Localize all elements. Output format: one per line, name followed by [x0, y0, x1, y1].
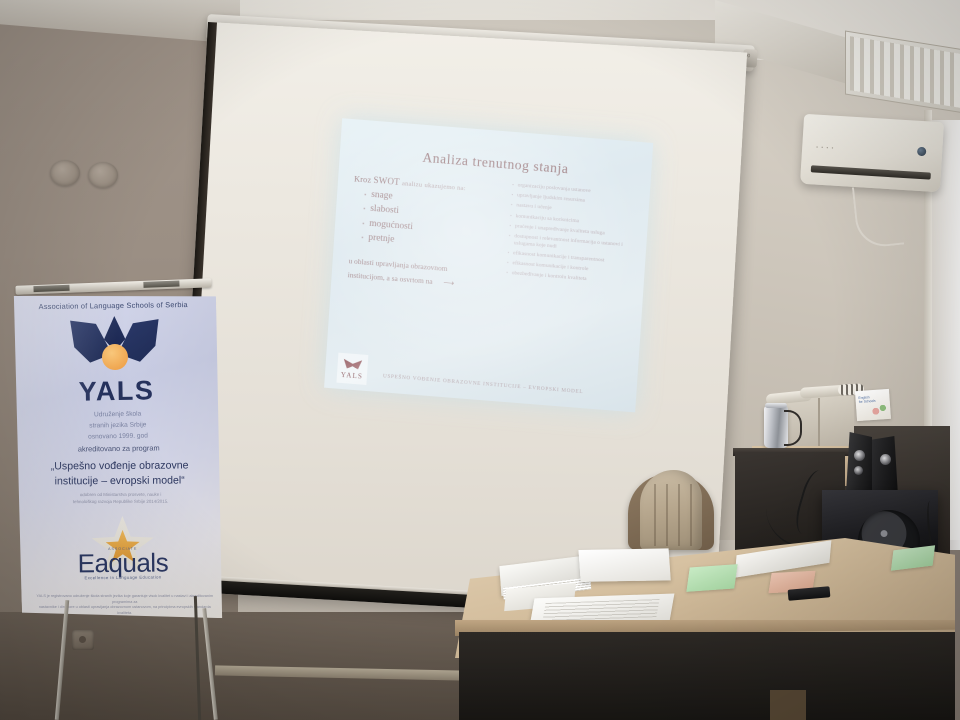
ac-vent	[811, 165, 931, 179]
bullet-marker: ▪	[363, 206, 366, 212]
banner-program-line-1: „Uspešno vođenje obrazovne	[21, 458, 219, 474]
slide-bullet: ▪ mogućnosti	[362, 218, 493, 238]
bullet-marker: ▪	[512, 182, 514, 189]
slide-lead-line: Kroz SWOT analizu ukazujemo na:	[354, 173, 496, 194]
eaquals-associate-badge: ASSOCIATE	[108, 547, 137, 551]
banner-subtitle: Udruženje škola stranih jezika Srbije os…	[15, 408, 222, 444]
satellite-speaker-icon[interactable]	[872, 436, 898, 496]
banner-header-text: Association of Language Schools of Serbi…	[10, 300, 216, 312]
slide-right-bullet: ▪ organizaciju poslovanja ustanove	[512, 182, 640, 199]
banner-fine-print-line: tehnološkog razvoja Republike Srbije 201…	[32, 498, 210, 505]
binder-right-page	[578, 548, 670, 581]
lead-prefix: Kroz	[354, 174, 372, 184]
slide-title: Analiza trenutnog stanja	[339, 143, 651, 184]
arrow-icon: ⟶	[443, 276, 454, 291]
ac-indicator-led	[917, 147, 927, 157]
slide-bullet: ▪ pretnje	[361, 232, 492, 252]
speaker-driver	[854, 450, 865, 461]
slide-tail-text: u oblasti upravljanja obrazovnom institu…	[347, 254, 490, 293]
banner-bottom-fine-print: YALS je registrovano udruženje škola str…	[32, 594, 218, 616]
banner-subtitle-line: Udruženje škola	[15, 408, 221, 422]
yals-logo-text: YALS	[341, 370, 364, 380]
right-bullet-label: upravljanje ljudskim resursima	[517, 193, 585, 205]
banner-bottom-line: YALS je registrovano udruženje škola str…	[32, 594, 218, 605]
logo-sun-icon	[102, 344, 128, 370]
banner-accreditation-label: akreditovano za program	[16, 443, 222, 455]
right-bullet-label: dostupnost i relevantnost informacija o …	[514, 233, 637, 256]
bullet-marker: ▪	[507, 260, 509, 267]
tail-line-2-row: institucijom, a sa osvrtom na ⟶	[347, 268, 490, 293]
banner-subtitle-line: stranih jezika Srbije	[15, 419, 221, 433]
wall-disc-icon	[88, 162, 118, 188]
speaker-driver	[854, 466, 863, 475]
slide-right-bullet: ▪ upravljanje ljudskim resursima	[511, 192, 639, 209]
bullet-marker: ▪	[508, 233, 511, 247]
slide-right-bullet: ▪ obezbeđivanje i kontrolu kvaliteta	[506, 270, 634, 287]
banner-poster: Association of Language Schools of Serbi…	[10, 288, 229, 626]
fabric-fold	[678, 484, 680, 546]
right-bullet-label: organizaciju poslovanja ustanove	[517, 182, 590, 195]
kettle-lid	[765, 403, 787, 408]
eaquals-star-outline-icon	[91, 516, 154, 575]
yals-bird-icon	[342, 358, 363, 372]
logo-left-wing	[67, 318, 114, 365]
desk-leg	[770, 690, 806, 720]
bullet-marker: ▪	[506, 270, 508, 277]
document-text-lines	[542, 599, 659, 621]
banner-bottom-line: nastavnike i direktore u oblasti upravlj…	[32, 605, 218, 616]
ac-brand-label: • • • •	[816, 145, 835, 152]
logo-center-wing	[100, 316, 129, 356]
light-grille	[850, 36, 960, 107]
banner-fine-print: odobren od Ministarstva prosvete, nauke …	[32, 492, 210, 506]
eaquals-logo-icon: ASSOCIATE Eaquals Excellence in Language…	[19, 519, 226, 591]
slide-footer: YALS USPEŠNO VOĐENJE OBRAZOVNE INSTITUCI…	[332, 349, 631, 407]
lead-suffix-1: analizu	[402, 180, 423, 189]
fabric-fold	[690, 484, 692, 546]
right-bullet-label: komunikaciju sa korisnicima	[515, 213, 579, 225]
banner-clip	[143, 281, 179, 288]
bullet-marker: ▪	[509, 223, 511, 230]
air-conditioner-icon[interactable]: • • • •	[800, 114, 944, 192]
bullet-marker: ▪	[510, 212, 512, 219]
eaquals-wordmark: Eaquals	[20, 547, 226, 580]
slide-right-bullet: ▪ dostupnost i relevantnost informacija …	[508, 233, 637, 257]
right-bullet-label: efikasnost komunikacije i transparentnos…	[513, 250, 605, 264]
banner-fine-print-line: odobren od Ministarstva prosvete, nauke …	[32, 492, 210, 499]
slide-right-bullet: ▪ efikasnost komunikacije i transparentn…	[507, 250, 635, 267]
right-bullet-label: nastavu i učenje	[516, 203, 552, 213]
tail-line-1: u oblasti upravljanja obrazovnom	[348, 254, 491, 279]
bullet-label: pretnje	[368, 233, 395, 245]
slide-left-column: Kroz SWOT analizu ukazujemo na: ▪ snage …	[347, 173, 496, 293]
right-bullet-label: praćenje i unapređivanje kvaliteta uslug…	[515, 223, 605, 237]
promo-card-artwork	[870, 402, 889, 417]
right-bullet-label: efikasnost komunikacije i kontrole	[512, 260, 588, 273]
bullet-label: slabosti	[370, 204, 399, 216]
logo-right-wing	[115, 317, 162, 364]
banner-program-title: „Uspešno vođenje obrazovne institucije –…	[21, 458, 219, 489]
satellite-speaker-icon[interactable]	[846, 432, 872, 494]
banner-clip	[33, 285, 69, 292]
slide-right-bullet: ▪ praćenje i unapređivanje kvaliteta usl…	[509, 223, 637, 240]
yals-bird-logo-icon	[66, 315, 163, 379]
slide-right-bullet: ▪ efikasnost komunikacije i kontrole	[507, 260, 635, 277]
bullet-marker: ▪	[511, 192, 513, 199]
banner-logo-word: YALS	[13, 374, 220, 409]
banner-subtitle-line: osnovano 1999. god	[15, 430, 221, 444]
shelf-divider	[818, 398, 820, 446]
room-photo-scene: • • • • 600 Analiza trenutnog stanja Kro…	[0, 0, 960, 720]
desk-front-panel	[459, 632, 955, 720]
electric-kettle-icon[interactable]	[764, 406, 788, 448]
slide-right-bullet: ▪ komunikaciju sa korisnicima	[510, 212, 638, 229]
eaquals-tagline: Excellence in Language Education	[20, 574, 226, 581]
slide-bullet: ▪ snage	[364, 189, 495, 209]
bullet-label: snage	[371, 189, 393, 201]
bullet-marker: ▪	[362, 221, 365, 227]
slide-right-column: ▪ organizaciju poslovanja ustanove ▪ upr…	[506, 182, 640, 290]
bullet-marker: ▪	[361, 235, 364, 241]
bullet-marker: ▪	[507, 250, 509, 257]
eaquals-star-icon	[106, 530, 140, 562]
wall-socket-icon[interactable]	[72, 630, 94, 650]
fabric-fold	[666, 484, 668, 546]
draped-jacket[interactable]	[640, 470, 702, 550]
right-bullet-label: obezbeđivanje i kontrolu kvaliteta	[512, 270, 587, 283]
speaker-driver	[880, 454, 891, 465]
tail-line-2: institucijom, a sa osvrtom na	[347, 270, 433, 286]
slide-bullet: ▪ slabosti	[363, 203, 494, 223]
bullet-marker: ▪	[364, 192, 367, 198]
yals-logo-icon: YALS	[336, 353, 368, 385]
banner-program-line-2: institucije – evropski model“	[21, 473, 219, 489]
bullet-label: mogućnosti	[369, 218, 413, 231]
bullet-marker: ▪	[510, 202, 512, 209]
slide-footer-text: USPEŠNO VOĐENJE OBRAZOVNE INSTITUCIJE – …	[383, 373, 584, 395]
fabric-fold	[654, 484, 656, 546]
projected-slide: Analiza trenutnog stanja Kroz SWOT anali…	[324, 118, 653, 412]
lead-keyword: SWOT	[373, 175, 400, 187]
yals-banner[interactable]: Association of Language Schools of Serbi…	[0, 282, 236, 630]
lead-suffix-2: ukazujemo na:	[424, 182, 466, 192]
promo-card[interactable]: English for Schools	[855, 389, 891, 421]
slide-right-bullet: ▪ nastavu i učenje	[510, 202, 638, 219]
wall-disc-icon	[50, 160, 80, 186]
sticky-note[interactable]	[686, 564, 737, 592]
